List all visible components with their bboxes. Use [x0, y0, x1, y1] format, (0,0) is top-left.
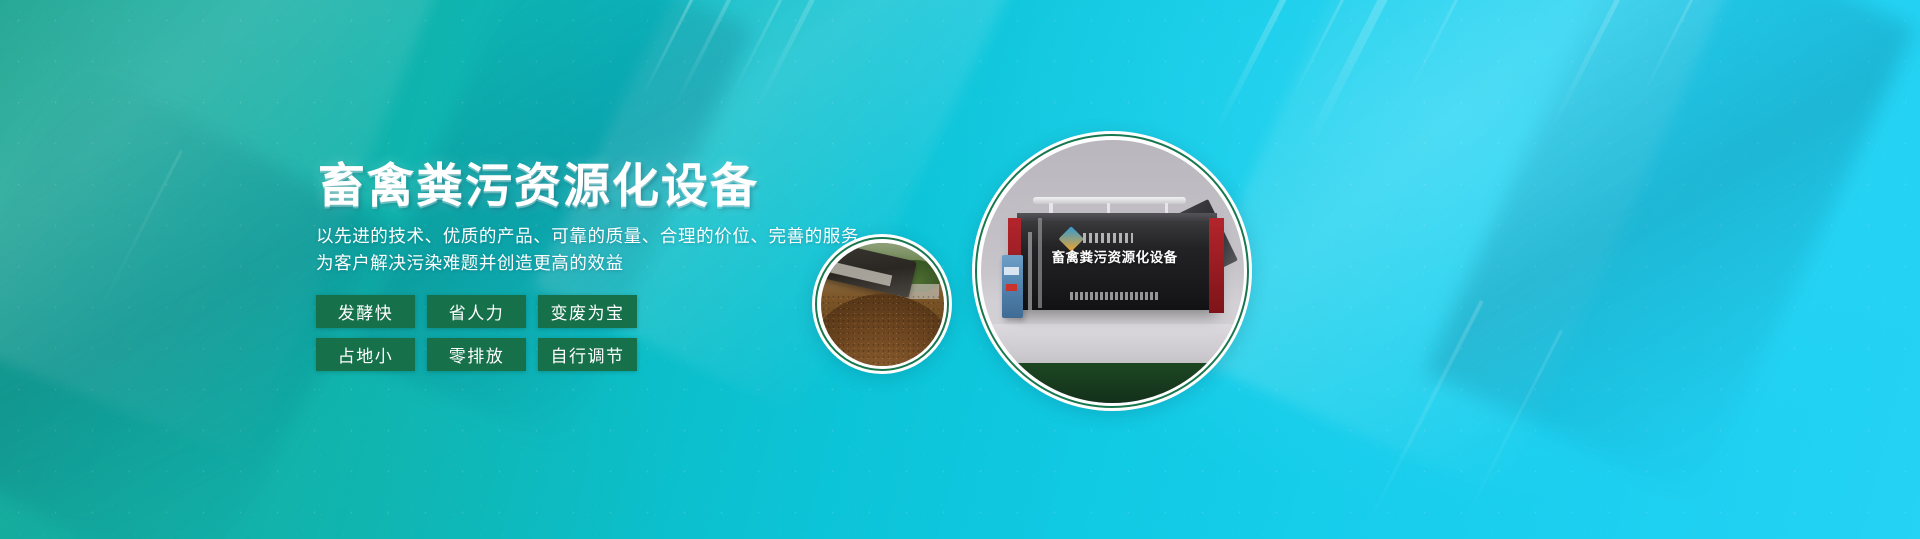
- control-cabinet-screen: [1004, 267, 1020, 276]
- equipment-frame-leg-1: [1028, 232, 1032, 311]
- feature-tag-zero-emission[interactable]: 零排放: [427, 338, 526, 371]
- page-title: 畜禽粪污资源化设备: [318, 162, 876, 209]
- hero-banner: 畜禽粪污资源化设备 以先进的技术、优质的产品、可靠的质量、合理的价位、完善的服务…: [0, 0, 1920, 539]
- streak-12: [1460, 330, 1563, 527]
- compost-circle-photo: [821, 243, 944, 366]
- subtitle-line-1: 以先进的技术、优质的产品、可靠的质量、合理的价位、完善的服务: [316, 223, 876, 250]
- streak-10: [1641, 0, 1703, 97]
- compost-photo-circle: [812, 234, 952, 374]
- compost-circle-ring: [815, 237, 949, 371]
- equipment-device-label: 畜禽粪污资源化设备: [1046, 251, 1183, 266]
- streak-9: [1549, 0, 1644, 130]
- feature-tag-small-footprint[interactable]: 占地小: [316, 338, 415, 371]
- streak-8: [1406, 0, 1472, 96]
- shadow-wedge-right: [1424, 0, 1916, 499]
- control-cabinet-button: [1006, 284, 1018, 290]
- streak-1: [641, 0, 703, 97]
- equipment-render-image: 畜禽粪污资源化设备: [981, 140, 1244, 403]
- equipment-grass-strip: [981, 363, 1244, 402]
- streak-2: [674, 0, 746, 105]
- streak-4: [756, 0, 826, 106]
- decorative-streaks-layer: [0, 0, 1920, 539]
- banner-text-block: 畜禽粪污资源化设备 以先进的技术、优质的产品、可靠的质量、合理的价位、完善的服务…: [316, 162, 876, 371]
- feature-tag-list: 发酵快 省人力 变废为宝 占地小 零排放 自行调节: [316, 295, 666, 371]
- glow-band-right: [1174, 0, 1747, 497]
- equipment-circle-ring: 畜禽粪污资源化设备: [975, 134, 1249, 408]
- compost-pile-image: [821, 243, 944, 366]
- streak-6: [1288, 0, 1359, 105]
- feature-tag-waste-to-treasure[interactable]: 变废为宝: [538, 295, 637, 328]
- streak-5: [1214, 0, 1306, 132]
- compost-material-pile: [821, 294, 944, 365]
- background-speckle-texture: [0, 0, 1920, 539]
- equipment-end-cap-right: [1209, 218, 1223, 313]
- streak-3: [730, 0, 787, 98]
- equipment-frame-leg-2: [1038, 218, 1041, 307]
- feature-tag-labor-saving[interactable]: 省人力: [427, 295, 526, 328]
- equipment-photo-circle: 畜禽粪污资源化设备: [972, 131, 1252, 411]
- equipment-sub-label: [1070, 292, 1159, 300]
- feature-tag-fast-fermentation[interactable]: 发酵快: [316, 295, 415, 328]
- streak-13: [98, 150, 182, 312]
- streak-11: [1362, 300, 1484, 533]
- streak-7: [1304, 0, 1416, 149]
- equipment-circle-photo: 畜禽粪污资源化设备: [981, 140, 1244, 403]
- equipment-control-cabinet: [1002, 255, 1023, 318]
- subtitle-line-2: 为客户解决污染难题并创造更高的效益: [316, 250, 876, 277]
- compost-grain-texture: [821, 294, 944, 365]
- equipment-brand-text: [1083, 233, 1133, 244]
- feature-tag-self-adjusting[interactable]: 自行调节: [538, 338, 637, 371]
